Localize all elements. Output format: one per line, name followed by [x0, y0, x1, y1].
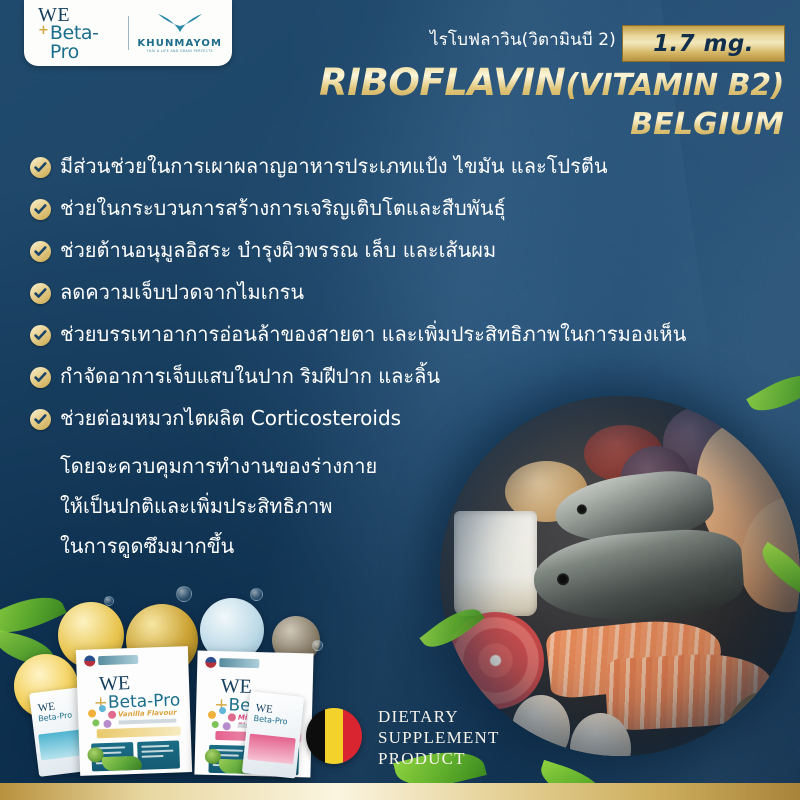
check-circle-icon	[30, 409, 51, 430]
benefit-item: มีส่วนช่วยในการเผาผลาญอาหารประเภทแป้ง ไข…	[30, 152, 710, 194]
certification-label	[219, 658, 259, 668]
certification-seal-icon	[84, 655, 95, 666]
benefit-text: ช่วยบรรเทาอาการอ่อนล้าของสายตา และเพิ่มป…	[60, 320, 686, 348]
dietary-supplement-label: DIETARY SUPPLEMENT PRODUCT	[378, 706, 500, 769]
page-title: RIBOFLAVIN(VITAMIN B2) BELGIUM	[144, 62, 784, 143]
dose-badge-value: 1.7 mg.	[653, 31, 754, 57]
benefit-item: ช่วยในกระบวนการสร้างการเจริญเติบโตและสืบ…	[30, 194, 710, 236]
sachet-name-text: Beta-Pro	[253, 714, 288, 727]
title-country-text: BELGIUM	[144, 107, 784, 143]
brand-logo-card: WE + Beta-Pro KHUNMAYOM THAI A LIFE AND …	[24, 0, 232, 66]
leaf-decoration	[746, 364, 800, 422]
check-circle-icon	[30, 283, 51, 304]
bubble-decoration	[312, 640, 323, 651]
benefit-text: กำจัดอาการเจ็บแสบในปาก ริมฝีปาก และลิ้น	[60, 362, 440, 390]
flag-band-red	[343, 708, 362, 764]
infographic-canvas: WE + Beta-Pro KHUNMAYOM THAI A LIFE AND …	[0, 0, 800, 800]
sachet-stripe	[247, 734, 295, 765]
benefit-item: ลดความเจ็บปวดจากไมเกรน	[30, 278, 710, 320]
dietary-line-3: PRODUCT	[378, 748, 500, 769]
logo-plus-icon: +	[38, 24, 49, 38]
product-sachet: WE Beta-Pro	[242, 691, 304, 778]
partner-name: KHUNMAYOM	[137, 38, 222, 49]
thai-subtitle: ไรโบฟลาวิน(วิตามินบี 2)	[430, 26, 616, 53]
check-circle-icon	[30, 367, 51, 388]
box-subline	[118, 719, 176, 725]
ingredient-icon-cluster	[207, 707, 238, 734]
certification-label	[98, 655, 138, 665]
box-feature-panel	[137, 740, 180, 769]
vegetable-image	[102, 756, 142, 771]
benefit-item: ช่วยต้านอนุมูลอิสระ บำรุงผิวพรรณ เล็บ แล…	[30, 236, 710, 278]
benefit-item: ช่วยบรรเทาอาการอ่อนล้าของสายตา และเพิ่มป…	[30, 320, 710, 362]
certification-seal-icon	[205, 657, 216, 668]
title-main-text: RIBOFLAVIN	[319, 61, 565, 104]
photo-vignette	[440, 396, 800, 756]
bubble-decoration	[176, 586, 192, 602]
partner-tagline: THAI A LIFE AND GRAIN PERFECTS	[146, 49, 213, 53]
box-flavour-text: Vanilla Flavour	[118, 709, 177, 719]
check-circle-icon	[30, 241, 51, 262]
benefit-text: มีส่วนช่วยในการเผาผลาญอาหารประเภทแป้ง ไข…	[60, 152, 608, 180]
benefit-text: ลดความเจ็บปวดจากไมเกรน	[60, 278, 304, 306]
partner-logo: KHUNMAYOM THAI A LIFE AND GRAIN PERFECTS	[137, 13, 222, 53]
flag-band-yellow	[325, 708, 344, 764]
food-photo-circle	[440, 396, 800, 756]
benefit-text: ช่วยในกระบวนการสร้างการเจริญเติบโตและสืบ…	[60, 194, 506, 222]
bottom-gold-strip	[0, 783, 800, 800]
bubble-decoration	[250, 588, 263, 601]
benefit-text: ช่วยต้านอนุมูลอิสระ บำรุงผิวพรรณ เล็บ แล…	[60, 236, 496, 264]
dietary-line-2: SUPPLEMENT	[378, 727, 500, 748]
benefit-text: ช่วยต่อมหมวกไตผลิต Corticosteroids	[60, 404, 401, 432]
check-circle-icon	[30, 325, 51, 346]
bubble-decoration	[104, 596, 114, 606]
brand-logo-text: WE + Beta-Pro	[34, 5, 119, 62]
logo-divider	[128, 16, 129, 50]
logo-beta-pro: + Beta-Pro	[38, 24, 119, 62]
check-circle-icon	[30, 199, 51, 220]
dietary-line-1: DIETARY	[378, 706, 500, 727]
product-box: WE +Beta-Pro Vanilla Flavour	[76, 646, 192, 776]
logo-beta-pro-text: Beta-Pro	[50, 24, 119, 62]
ingredient-icon-cluster	[88, 705, 119, 732]
belgium-flag-icon	[306, 708, 362, 764]
dose-badge: 1.7 mg.	[622, 25, 785, 62]
check-circle-icon	[30, 157, 51, 178]
title-line-1: RIBOFLAVIN(VITAMIN B2)	[144, 62, 784, 107]
title-paren-text: (VITAMIN B2)	[565, 68, 784, 103]
wing-logo-icon	[157, 13, 203, 37]
